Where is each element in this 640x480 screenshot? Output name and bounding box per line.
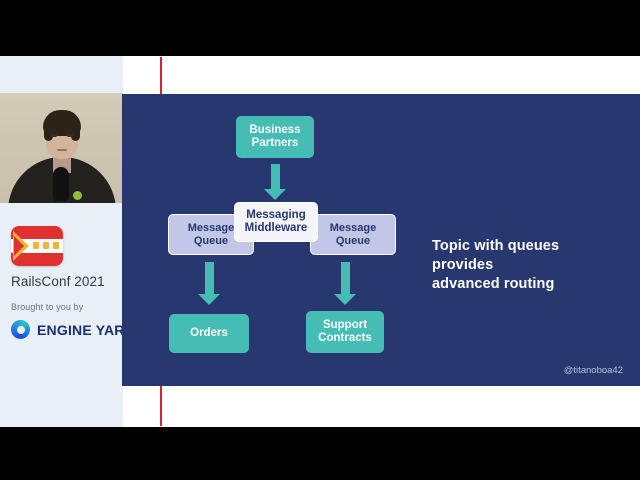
diagram-node-message-queue-right: Message Queue bbox=[310, 214, 396, 255]
slide-headline: Topic with queues provides advanced rout… bbox=[432, 237, 628, 294]
node-label-line1: Support bbox=[323, 319, 367, 332]
railsconf-chevron-inner bbox=[14, 236, 24, 256]
arrow-stem bbox=[271, 164, 280, 189]
railsconf-dot bbox=[53, 242, 59, 249]
letterbox-bar-top bbox=[0, 0, 640, 56]
node-label-line2: Middleware bbox=[245, 222, 308, 235]
slide-canvas: RailsConf 2021 Brought to you by ENGINE … bbox=[0, 56, 640, 427]
speaker-webcam-video[interactable] bbox=[0, 93, 123, 203]
speaker-mouth bbox=[57, 149, 67, 151]
arrow-stem bbox=[205, 262, 214, 294]
speaker-hair-left bbox=[44, 119, 53, 141]
screen-capture: RailsConf 2021 Brought to you by ENGINE … bbox=[0, 0, 640, 480]
letterbox-bar-bottom bbox=[0, 427, 640, 480]
diagram-node-orders: Orders bbox=[169, 314, 249, 353]
node-label-line2: Contracts bbox=[318, 332, 372, 345]
node-label-line2: Queue bbox=[194, 235, 228, 247]
arrow-down-to-orders-icon bbox=[198, 262, 220, 306]
diagram-node-support-contracts: Support Contracts bbox=[306, 311, 384, 353]
sponsor-logo-row: ENGINE YARD bbox=[11, 320, 135, 339]
node-label-line1: Message bbox=[188, 222, 234, 234]
microphone-indicator-light bbox=[73, 191, 82, 200]
diagram-node-messaging-middleware: Messaging Middleware bbox=[234, 202, 318, 242]
engine-yard-mark-icon bbox=[11, 320, 30, 339]
node-label-line1: Message bbox=[330, 222, 376, 234]
arrow-down-to-middleware-icon bbox=[264, 164, 286, 200]
speaker-hair-right bbox=[71, 119, 80, 141]
diagram-node-business-partners: Business Partners bbox=[236, 116, 314, 158]
node-label-line2: Partners bbox=[252, 137, 299, 150]
arrow-head bbox=[334, 294, 356, 305]
headline-line-1: Topic with queues bbox=[432, 237, 628, 256]
node-label-line2: Queue bbox=[336, 235, 370, 247]
conference-name: RailsConf 2021 bbox=[11, 274, 105, 289]
railsconf-dots bbox=[33, 242, 59, 249]
arrow-down-to-support-icon bbox=[334, 262, 356, 306]
railsconf-dot bbox=[33, 242, 39, 249]
branding-panel: RailsConf 2021 Brought to you by ENGINE … bbox=[0, 203, 123, 427]
slide-content-panel: Business Partners Message Queue Message … bbox=[122, 94, 640, 386]
railsconf-dot bbox=[43, 242, 49, 249]
node-label-line1: Messaging bbox=[246, 209, 305, 222]
sponsor-prefix-label: Brought to you by bbox=[11, 302, 83, 312]
node-label-line1: Business bbox=[249, 124, 300, 137]
microphone-icon bbox=[53, 167, 69, 201]
arrow-head bbox=[264, 189, 286, 200]
arrow-head bbox=[198, 294, 220, 305]
headline-line-2: provides bbox=[432, 256, 628, 275]
arrow-stem bbox=[341, 262, 350, 294]
node-label-line1: Orders bbox=[190, 327, 228, 340]
railsconf-logo-icon bbox=[11, 226, 63, 266]
sponsor-name: ENGINE YARD bbox=[37, 322, 135, 338]
speaker-eye-right bbox=[67, 134, 73, 137]
speaker-eye-left bbox=[51, 134, 57, 137]
headline-line-3: advanced routing bbox=[432, 275, 628, 294]
speaker-twitter-handle: @titanoboa42 bbox=[564, 365, 623, 376]
